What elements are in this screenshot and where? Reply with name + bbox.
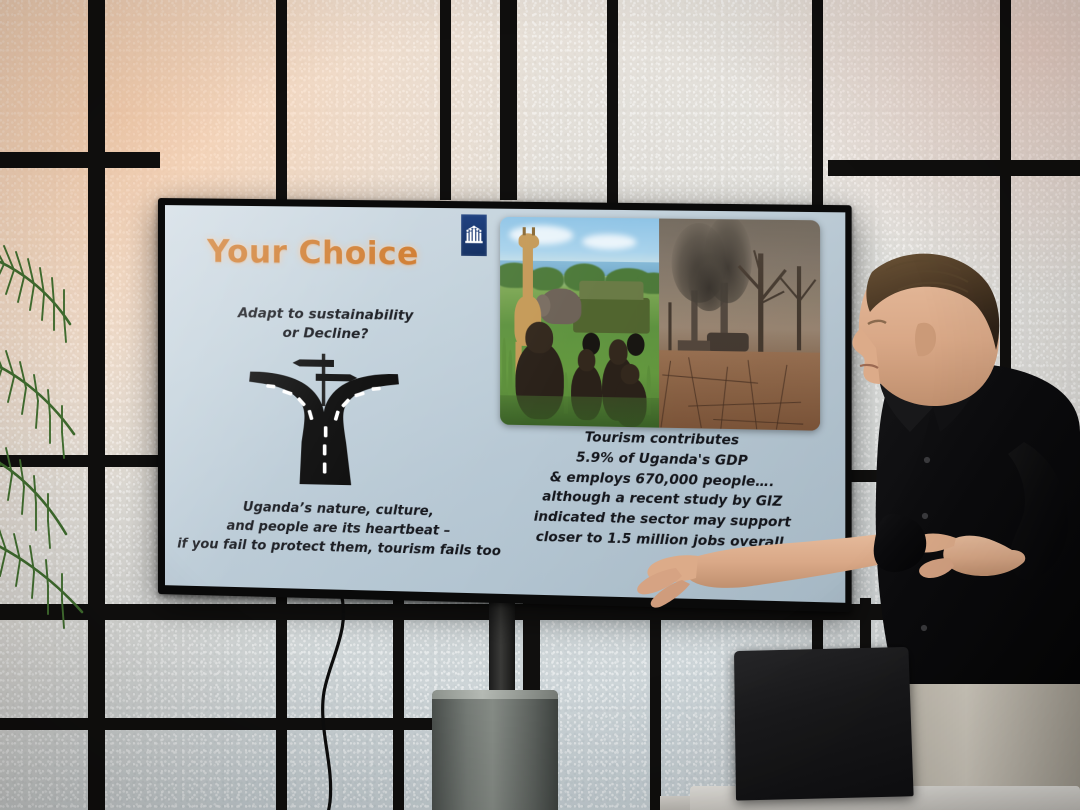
adapt-line-2: or Decline? xyxy=(217,323,435,346)
tv-stand-pole xyxy=(489,592,515,694)
window-mullion-horizontal xyxy=(828,160,1080,176)
tv-stand-base xyxy=(432,690,558,810)
adapt-line-1: Adapt to sustainability xyxy=(217,304,435,327)
window-mullion-vertical xyxy=(500,0,517,200)
window-mullion-horizontal xyxy=(0,152,160,168)
window-mullion-vertical xyxy=(607,0,618,205)
potted-palm-plant xyxy=(0,238,143,638)
rijksoverheid-logo xyxy=(461,214,487,256)
laptop[interactable] xyxy=(727,648,917,810)
window-mullion-vertical-lower xyxy=(276,598,287,810)
window-mullion-vertical xyxy=(440,0,451,200)
adapt-prompt-text: Adapt to sustainability or Decline? xyxy=(217,304,435,346)
heartbeat-text: Uganda’s nature, culture, and people are… xyxy=(177,497,501,562)
window-mullion-vertical-lower xyxy=(393,598,404,810)
slide-title: Your Choice xyxy=(207,234,419,273)
presenter-left-arm xyxy=(684,532,905,588)
presentation-scene: Your Choice Adapt to sustainability or D… xyxy=(0,0,1080,810)
laptop-lid xyxy=(734,647,914,801)
forked-road-icon xyxy=(237,348,414,487)
